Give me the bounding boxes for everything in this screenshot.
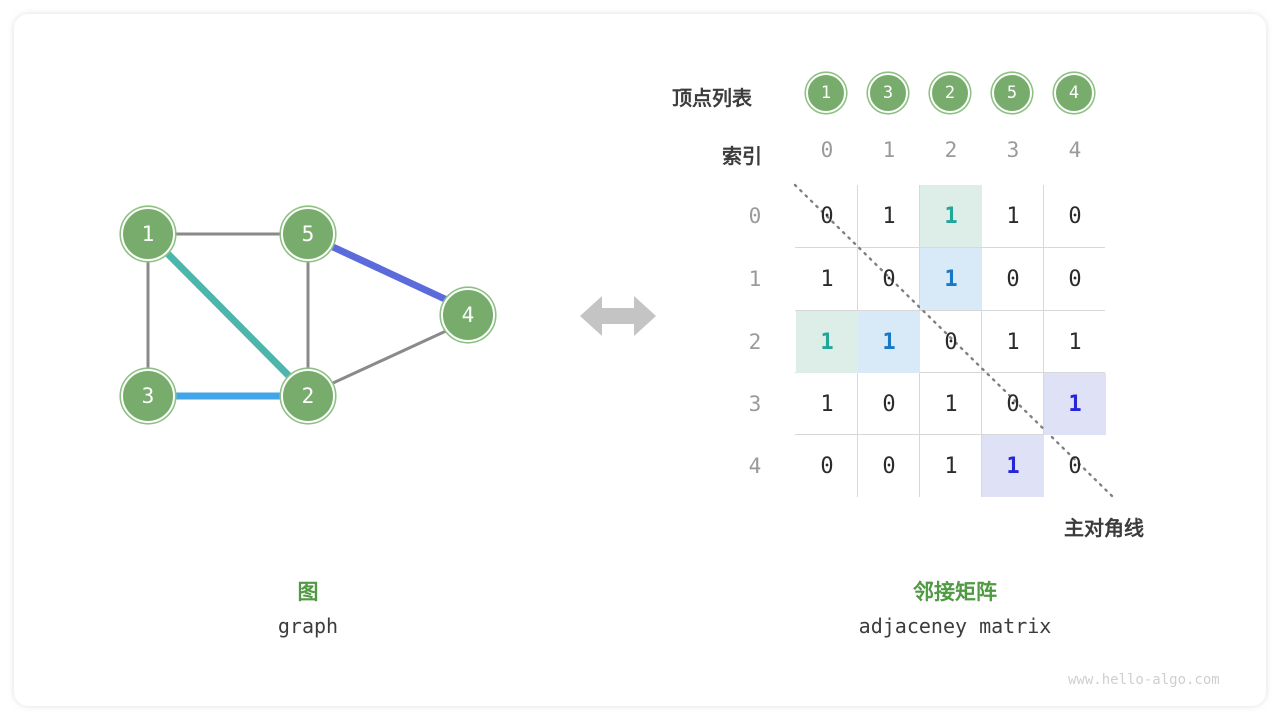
graph-node-1-label: 1 [142,222,155,246]
matrix-cell-4-3: 1 [982,435,1044,497]
matrix-caption-en: adjaceney matrix [830,614,1080,638]
graph-node-3[interactable]: 3 [121,369,175,423]
bidirectional-arrow [580,296,656,336]
vertex-list-item-1-label: 3 [883,83,893,103]
matrix-cell-3-1: 0 [858,373,920,435]
vertex-list-item-3-label: 5 [1007,83,1017,103]
matrix-cell-0-1: 1 [858,185,920,247]
diagram-canvas: 1 5 4 3 2 顶点列表 1 3 2 5 4 索引 0 1 2 3 4 0 … [0,0,1280,720]
matrix-cell-0-4: 0 [1044,185,1106,247]
graph-caption-en: graph [233,614,383,638]
matrix-cell-3-2: 1 [920,373,982,435]
column-header-4: 4 [1044,130,1106,170]
row-header-2: 2 [728,311,782,373]
matrix-cell-4-0: 0 [796,435,858,497]
column-header-3: 3 [982,130,1044,170]
edge-5-4-indigo [333,247,447,300]
graph-node-4-label: 4 [462,303,475,327]
vertex-list-item-4[interactable]: 4 [1054,73,1094,113]
edge-1-2-teal [168,254,290,377]
vertex-list-item-2[interactable]: 2 [930,73,970,113]
watermark: www.hello-algo.com [1068,672,1220,688]
row-header-0: 0 [728,185,782,247]
matrix-cell-3-0: 1 [796,373,858,435]
row-header-1: 1 [728,248,782,310]
matrix-cell-3-3: 0 [982,373,1044,435]
vertex-list-item-2-label: 2 [945,83,955,103]
matrix-cell-4-4: 0 [1044,435,1106,497]
row-header-4: 4 [728,435,782,497]
matrix-cell-1-0: 1 [796,248,858,310]
vertex-list-label: 顶点列表 [672,82,752,111]
matrix-cell-0-3: 1 [982,185,1044,247]
main-diagonal-label: 主对角线 [1064,512,1144,541]
matrix-cell-1-4: 0 [1044,248,1106,310]
matrix-cell-2-4: 1 [1044,311,1106,373]
graph-node-2[interactable]: 2 [281,369,335,423]
matrix-cell-2-3: 1 [982,311,1044,373]
matrix-cell-1-1: 0 [858,248,920,310]
column-header-2: 2 [920,130,982,170]
graph-node-4[interactable]: 4 [441,288,495,342]
vertex-list-item-4-label: 4 [1069,83,1079,103]
matrix-cell-0-0: 0 [796,185,858,247]
vertex-list-item-0[interactable]: 1 [806,73,846,113]
matrix-cell-0-2: 1 [920,185,982,247]
row-header-3: 3 [728,373,782,435]
vertex-list-item-1[interactable]: 3 [868,73,908,113]
matrix-cell-2-1: 1 [858,311,920,373]
edge-2-4 [333,331,446,383]
vertex-list-item-0-label: 1 [821,83,831,103]
column-header-0: 0 [796,130,858,170]
matrix-cell-2-2: 0 [920,311,982,373]
graph-node-2-label: 2 [302,384,315,408]
graph-node-3-label: 3 [142,384,155,408]
matrix-cell-4-1: 0 [858,435,920,497]
graph-node-5[interactable]: 5 [281,207,335,261]
column-header-1: 1 [858,130,920,170]
vertex-list-item-3[interactable]: 5 [992,73,1032,113]
matrix-cell-3-4: 1 [1044,373,1106,435]
matrix-cell-1-2: 1 [920,248,982,310]
matrix-caption-cn: 邻接矩阵 [830,576,1080,606]
graph-caption-cn: 图 [233,576,383,606]
graph-node-5-label: 5 [302,222,315,246]
matrix-cell-1-3: 0 [982,248,1044,310]
index-label: 索引 [722,140,762,169]
graph-node-1[interactable]: 1 [121,207,175,261]
matrix-cell-2-0: 1 [796,311,858,373]
matrix-cell-4-2: 1 [920,435,982,497]
